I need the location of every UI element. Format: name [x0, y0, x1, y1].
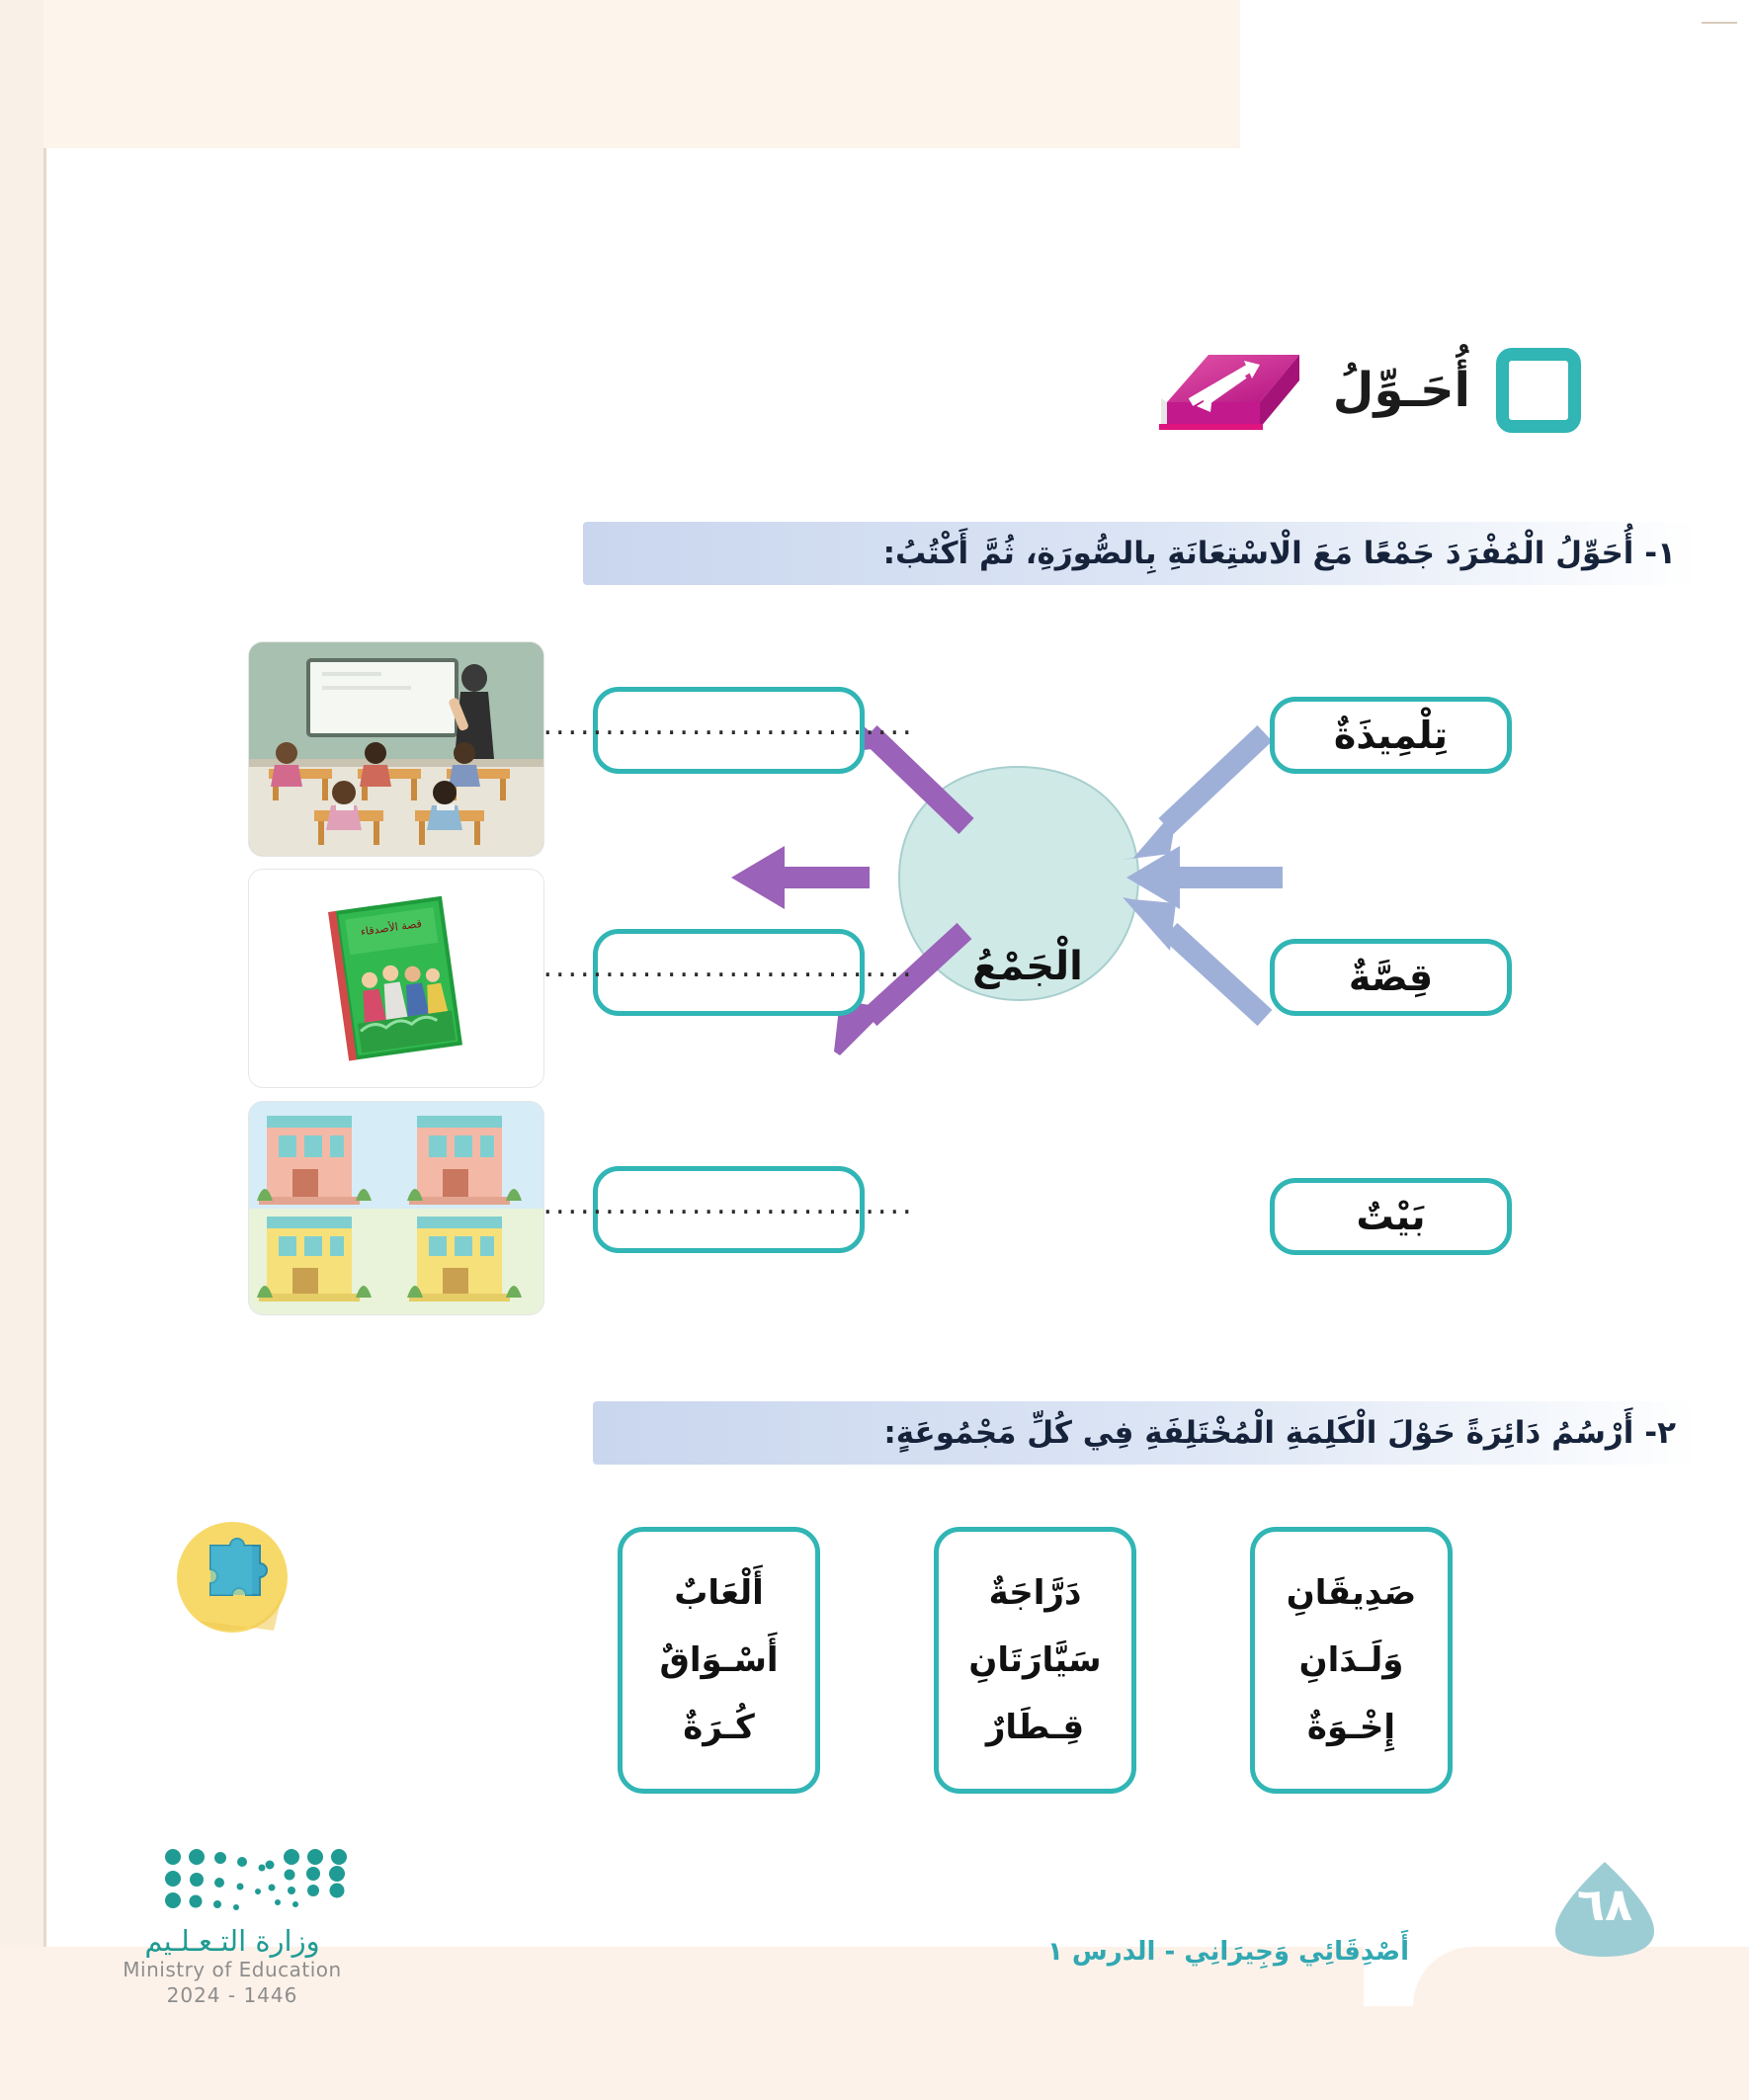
puzzle-piece-icon [163, 1512, 301, 1650]
group-word[interactable]: إِخْـوَةٌ [1307, 1708, 1395, 1747]
answer-blank-dots: .............................. [542, 1190, 914, 1229]
ministry-name-english: Ministry of Education [84, 1958, 380, 1981]
word-box-tilmithatun[interactable]: تِلْمِيذَةٌ [1270, 697, 1512, 774]
left-decorative-strip [0, 0, 43, 2100]
group-word[interactable]: دَرَّاجَةٌ [989, 1573, 1082, 1613]
group-word[interactable]: صَدِيقَانِ [1287, 1573, 1417, 1613]
ministry-year: 2024 - 1446 [84, 1983, 380, 2007]
left-strip-divider [43, 0, 46, 2100]
ministry-logo-block: وزارة التـعـلـيم Ministry of Education 2… [84, 1843, 380, 2007]
group-word[interactable]: أَسْـوَاقٌ [659, 1640, 778, 1680]
answer-blank-1[interactable]: .............................. [593, 687, 865, 774]
arrow-purple-middle [731, 846, 870, 909]
word-box-baytun[interactable]: بَيْتٌ [1270, 1178, 1512, 1255]
corner-mark-top-right [1702, 22, 1737, 24]
moe-dots-logo [84, 1843, 380, 1914]
arrow-blue-top [1123, 733, 1265, 860]
group-word[interactable]: قِـطَارٌ [986, 1708, 1084, 1747]
section-header: أُحَـوِّلُ [949, 336, 1581, 445]
word-box-qissatun[interactable]: قِصَّةٌ [1270, 939, 1512, 1016]
word-box-label: بَيْتٌ [1357, 1195, 1426, 1238]
exercise2-instruction-bar: ٢- أَرْسُمُ دَائِرَةً حَوْلَ الْكَلِمَةِ… [593, 1401, 1700, 1465]
group-box-friends[interactable]: صَدِيقَانِ وَلَـدَانِ إِخْـوَةٌ [1250, 1527, 1453, 1794]
answer-blank-dots: .............................. [542, 953, 914, 992]
group-box-vehicles[interactable]: دَرَّاجَةٌ سَيَّارَتَانِ قِـطَارٌ [934, 1527, 1136, 1794]
picture-houses [249, 1102, 543, 1314]
picture-story-book: قصة الأصدقاء [249, 870, 543, 1087]
answer-blank-dots: .............................. [542, 711, 914, 750]
group-word[interactable]: كُـرَةٌ [683, 1708, 755, 1747]
exercise1-instruction-bar: ١- أُحَوِّلُ الْمُفْرَدَ جَمْعًا مَعَ ال… [583, 522, 1700, 585]
word-box-label: قِصَّةٌ [1349, 956, 1433, 999]
book-swap-icon [1149, 341, 1307, 440]
center-blob-label: الْجَمْعُ [894, 944, 1161, 989]
page-number: ٦٨ [1551, 1878, 1658, 1931]
group-word[interactable]: وَلَـدَانِ [1299, 1640, 1404, 1680]
exercise2-instruction-text: ٢- أَرْسُمُ دَائِرَةً حَوْلَ الْكَلِمَةِ… [883, 1418, 1676, 1449]
worksheet-page: أُحَـوِّلُ ١- أ [0, 0, 1749, 2100]
picture-classroom-students [249, 642, 543, 856]
word-box-label: تِلْمِيذَةٌ [1334, 714, 1448, 757]
group-word[interactable]: سَيَّارَتَانِ [968, 1640, 1101, 1680]
section-title: أُحَـوِّلُ [1333, 363, 1470, 418]
ministry-name-arabic: وزارة التـعـلـيم [84, 1924, 380, 1958]
rounded-square-icon [1496, 348, 1581, 433]
group-box-toys[interactable]: أَلْعَابٌ أَسْـوَاقٌ كُـرَةٌ [618, 1527, 820, 1794]
answer-blank-3[interactable]: .............................. [593, 1166, 865, 1253]
top-banner-white-cut [1240, 0, 1705, 150]
footer-lesson-text: أَصْدِقَائِي وَجِيرَانِي - الدرس ١ [1047, 1937, 1502, 1967]
exercise1-instruction-text: ١- أُحَوِّلُ الْمُفْرَدَ جَمْعًا مَعَ ال… [883, 539, 1676, 569]
group-word[interactable]: أَلْعَابٌ [674, 1573, 764, 1613]
answer-blank-2[interactable]: .............................. [593, 929, 865, 1016]
